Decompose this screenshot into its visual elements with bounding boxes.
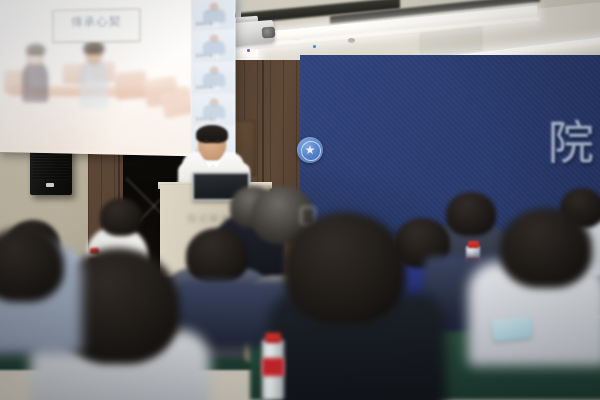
thumbnail-label: 遠端會場三 [194,86,218,91]
wall-chinese-character: 院 [548,120,594,166]
thumbnail-label: 遠端會場四 [194,117,218,123]
remote-room-chair [160,88,191,119]
remote-participant-left-mask-icon [29,57,41,64]
face-mask-on-table[interactable] [491,316,533,342]
presenter-eye-left [204,140,208,142]
wall-speaker-logo-icon [46,183,54,187]
water-bottle-cap [265,333,281,343]
audience-front-3-head [500,208,592,288]
conference-room-photo: 院 傳承心契 [0,0,600,400]
thumbnail-label: 遠端會場一 [194,22,218,28]
remote-room-banner: 傳承心契 · · · · · [52,8,140,42]
water-bottle-cap [468,241,479,248]
thumbnail-tile[interactable]: 遠端會場一 [193,0,236,30]
water-bottle-label [262,358,284,376]
remote-participant-center-body [79,59,108,109]
thumbnail-tile[interactable]: 遠端會場四 [193,93,236,125]
remote-participant-center-hair [83,41,104,55]
thumbnail-label: 遠端會場二 [194,54,218,59]
thumbnail-tile[interactable]: 遠端會場三 [193,61,236,93]
projector-lens-icon [262,27,276,39]
video-conference-main-view: 傳承心契 · · · · · [0,0,191,156]
ceiling-marker-dot [247,49,250,52]
presenter-eye-right [216,140,220,142]
remote-banner-subtext: · · · · · [53,28,139,35]
remote-participant-left-body [22,62,48,103]
presenter-hair [196,125,228,143]
ceiling-marker-dot [313,45,316,48]
audience-mid-1-head [186,228,248,284]
audience-back-4-head [100,198,142,236]
remote-participant-left-hair [26,44,45,56]
audience-front-1-head [284,212,406,324]
smoke-detector-icon [348,38,355,42]
thumbnail-tile[interactable]: 遠端會場二 [193,29,236,61]
audience-back-2-head [446,192,496,236]
